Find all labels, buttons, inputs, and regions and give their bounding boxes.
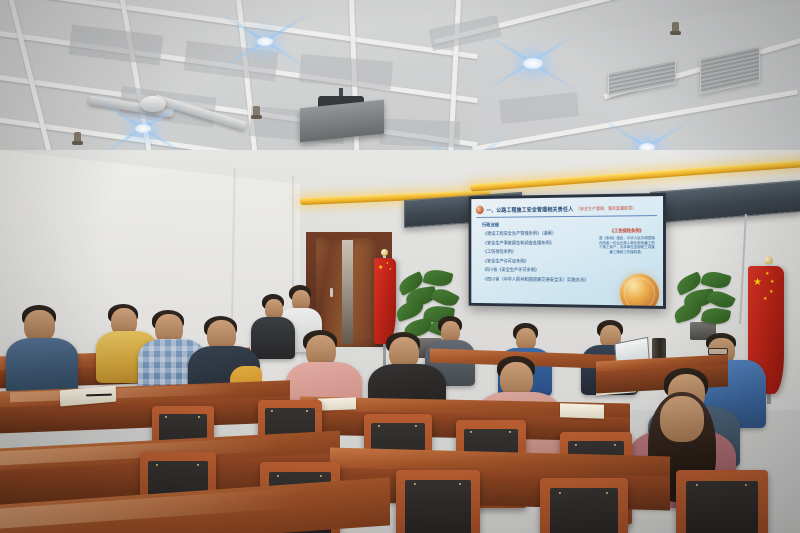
- head: [660, 396, 704, 442]
- chair-pad: [686, 481, 758, 533]
- slide-subtitle: 行政法规: [482, 222, 499, 229]
- slide-bullet: ·《工伤保险条例》: [484, 249, 585, 255]
- ceiling-panel: [380, 119, 461, 148]
- flag-star: ★: [763, 297, 767, 302]
- downlight: [257, 37, 273, 46]
- conference-room-photo: 一、公路工程施工安全管理相关责任人 （安全生产管理、落实监督职责） 行政法规 ·…: [0, 0, 800, 533]
- slide-content: 一、公路工程施工安全管理相关责任人 （安全生产管理、落实监督职责） 行政法规 ·…: [471, 196, 663, 306]
- ceiling-panel: [184, 41, 279, 82]
- ceiling-panel: [428, 15, 501, 51]
- chair[interactable]: [540, 478, 628, 533]
- torso: [251, 317, 295, 359]
- slide-title-note: （安全生产管理、落实监督职责）: [576, 205, 636, 212]
- flag-finial: [381, 249, 388, 256]
- ceiling-panel: [299, 54, 393, 90]
- sprinkler-head: [253, 106, 260, 118]
- slide-bullet-list: ·《建设工程安全生产管理条例》（通用） ·《安全生产事故报告和调查处理条例》 ·…: [484, 230, 585, 286]
- ceiling-panel: [69, 25, 164, 66]
- slide-divider: [477, 215, 657, 218]
- slide-side-body: 是《条例》规定，中华人民共和国境内的各一切企业用人单位和有雇工的个体工商户，为本…: [599, 236, 655, 255]
- flag-center: ★ ★ ★: [374, 258, 396, 344]
- door-opening: [342, 240, 353, 344]
- sprinkler-head: [74, 132, 81, 144]
- slide-bullet: ·《建设工程安全生产管理条例》（通用）: [484, 230, 585, 236]
- slide-side-heading: 《工伤保险条例》: [599, 228, 655, 234]
- slide-bullet: ·《安全生产事故报告和调查处理条例》: [484, 240, 585, 246]
- slide-bullet: ·四川省《安全生产许可条例》: [484, 267, 585, 273]
- torso: [6, 338, 78, 394]
- globe-icon: [620, 274, 659, 306]
- chair[interactable]: [676, 470, 768, 533]
- documents: [318, 397, 356, 410]
- sprinkler-head: [672, 22, 679, 34]
- slide-title: 一、公路工程施工安全管理相关责任人: [486, 205, 573, 214]
- flag-star: ★: [769, 290, 773, 295]
- slide-bullet: ·《四川省〈中华人民共和国道路交通安全法〉实施办法》: [484, 277, 585, 284]
- downlight: [523, 58, 543, 69]
- downlight: [135, 124, 151, 133]
- door-handle[interactable]: [330, 288, 333, 297]
- slide-title-row: 一、公路工程施工安全管理相关责任人 （安全生产管理、落实监督职责）: [476, 202, 658, 215]
- slide-side-panel: 《工伤保险条例》 是《条例》规定，中华人民共和国境内的各一切企业用人单位和有雇工…: [599, 228, 655, 255]
- chair-pad: [405, 480, 471, 533]
- flag-star: ★: [378, 265, 383, 271]
- flag-star: ★: [389, 268, 392, 271]
- flag-star: ★: [386, 262, 389, 265]
- chair-pad: [550, 488, 619, 533]
- ceiling-fan-hub: [140, 96, 166, 112]
- flag-star: ★: [753, 278, 762, 288]
- projector: [300, 100, 384, 143]
- flag-star: ★: [765, 272, 769, 277]
- slide-bullet: ·《安全生产许可证条例》: [484, 258, 585, 264]
- chair[interactable]: [396, 470, 480, 533]
- slide-emblem-icon: [476, 206, 484, 215]
- flag-star: ★: [770, 280, 774, 285]
- projection-screen: 一、公路工程施工安全管理相关责任人 （安全生产管理、落实监督职责） 行政法规 ·…: [469, 193, 666, 309]
- documents: [560, 403, 604, 419]
